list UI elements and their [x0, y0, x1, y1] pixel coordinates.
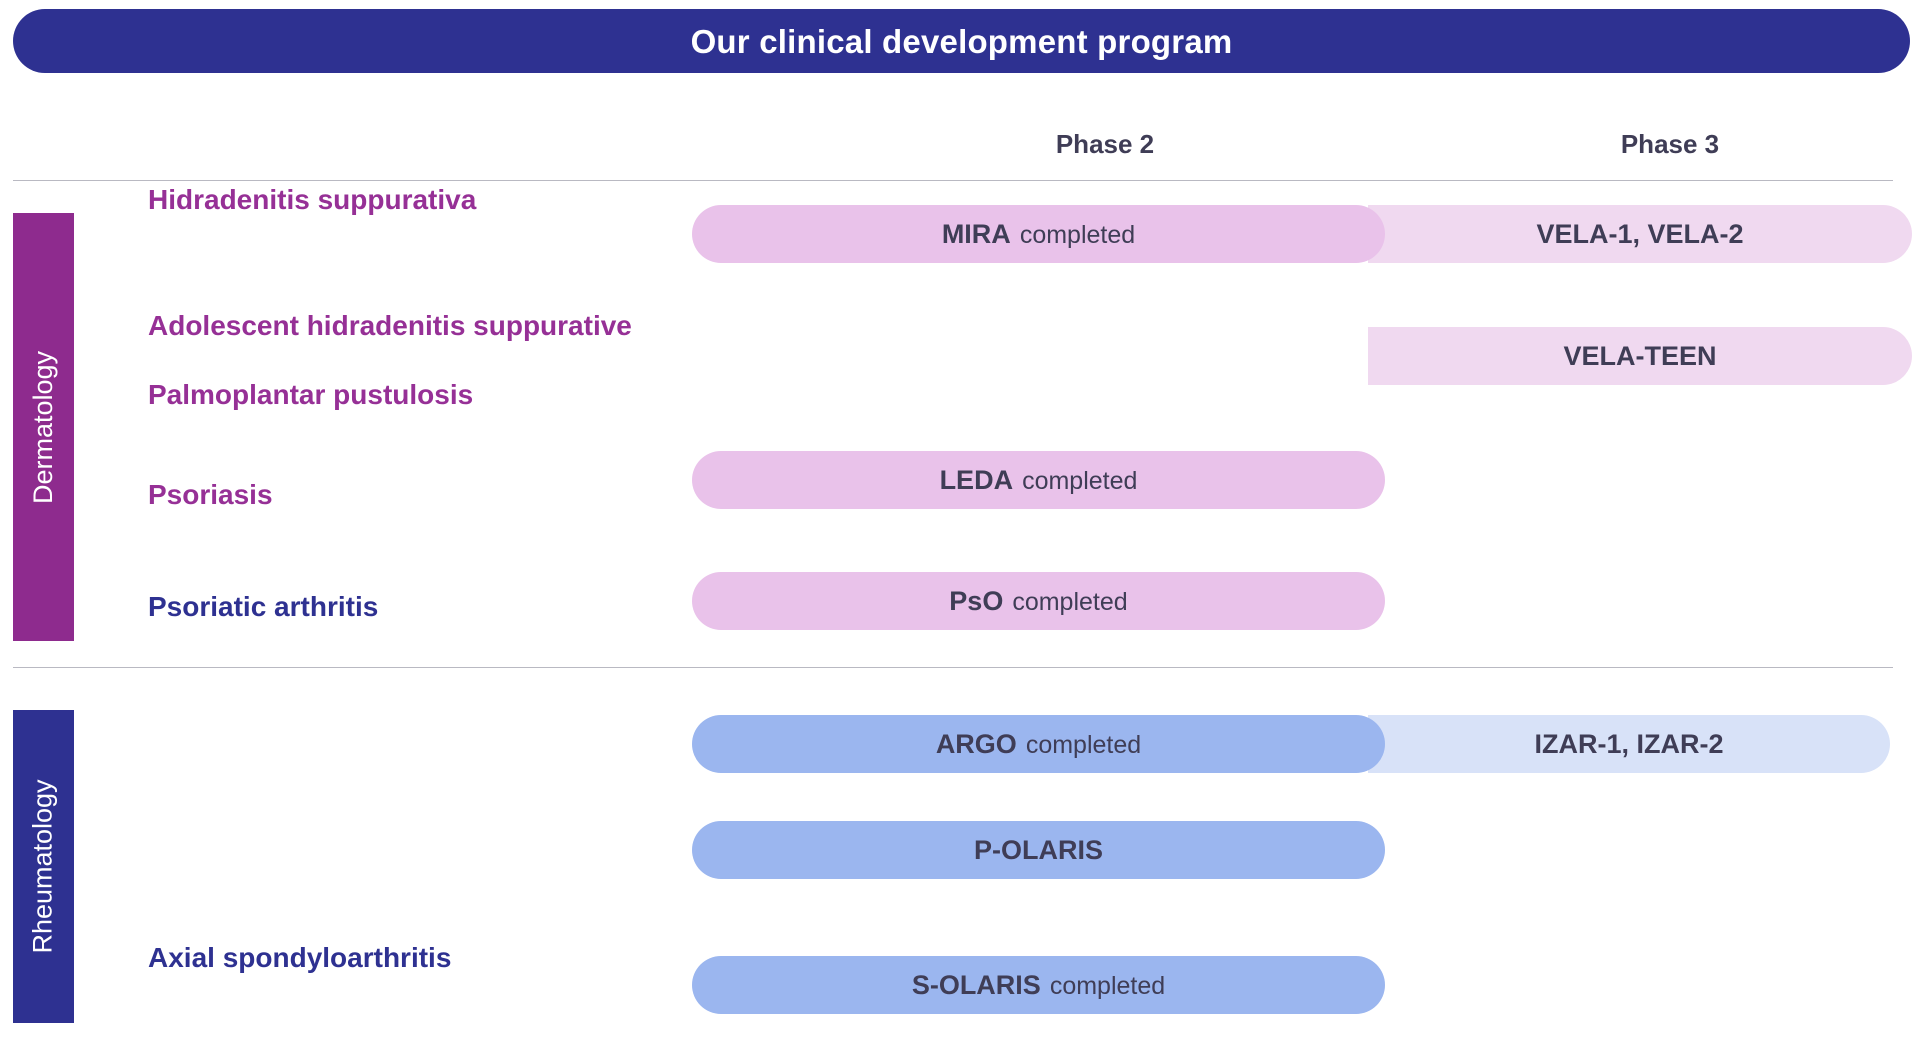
area-tab-dermatology-label: Dermatology — [30, 350, 57, 503]
indication-label-axial-spondyloarthritis: Axial spondyloarthritis — [148, 940, 708, 977]
bar-phase3-adolescent-hidradenitis-suppurative: VELA-TEEN — [1368, 327, 1912, 385]
bar-phase2-hidradenitis-suppurativa: MIRAcompleted — [692, 205, 1385, 263]
bar-phase3-hidradenitis-suppurativa-label: VELA-1, VELA-2 — [1536, 221, 1743, 248]
area-tab-dermatology: Dermatology — [13, 213, 74, 641]
bar-phase2-s-olaris: S-OLARIScompleted — [692, 956, 1385, 1014]
bar-phase3-psoriatic-arthritis: IZAR-1, IZAR-2 — [1368, 715, 1890, 773]
header-divider — [13, 180, 1893, 181]
bar-phase2-psoriatic-arthritis: ARGOcompleted — [692, 715, 1385, 773]
bar-phase2-psoriasis: PsOcompleted — [692, 572, 1385, 630]
column-header-phase-2: Phase 2 — [975, 131, 1235, 157]
indication-label-palmoplantar-pustulosis: Palmoplantar pustulosis — [148, 377, 708, 414]
bar-phase2-psoriatic-arthritis-label: ARGOcompleted — [936, 731, 1141, 758]
indication-label-psoriasis: Psoriasis — [148, 477, 708, 514]
bar-phase2-palmoplantar-pustulosis-label: LEDAcompleted — [940, 467, 1138, 494]
bar-phase2-p-olaris-label: P-OLARIS — [974, 837, 1103, 864]
section-divider — [13, 667, 1893, 668]
indication-label-adolescent-hidradenitis-suppurative: Adolescent hidradenitis suppurative — [148, 308, 708, 345]
page-title: Our clinical development program — [691, 25, 1233, 58]
bar-phase3-psoriatic-arthritis-label: IZAR-1, IZAR-2 — [1535, 731, 1724, 758]
bar-phase2-p-olaris: P-OLARIS — [692, 821, 1385, 879]
column-header-phase-3: Phase 3 — [1540, 131, 1800, 157]
bar-phase3-hidradenitis-suppurativa: VELA-1, VELA-2 — [1368, 205, 1912, 263]
indication-label-psoriatic-arthritis: Psoriatic arthritis — [148, 589, 708, 626]
bar-phase2-hidradenitis-suppurativa-label: MIRAcompleted — [942, 221, 1135, 248]
area-tab-rheumatology-label: Rheumatology — [30, 779, 57, 953]
program-title-bar: Our clinical development program — [13, 9, 1910, 73]
bar-phase2-psoriasis-label: PsOcompleted — [949, 588, 1127, 615]
bar-phase2-palmoplantar-pustulosis: LEDAcompleted — [692, 451, 1385, 509]
bar-phase2-s-olaris-label: S-OLARIScompleted — [912, 972, 1165, 999]
area-tab-rheumatology: Rheumatology — [13, 710, 74, 1023]
bar-phase3-adolescent-hidradenitis-suppurative-label: VELA-TEEN — [1563, 343, 1716, 370]
indication-label-hidradenitis-suppurativa: Hidradenitis suppurativa — [148, 182, 708, 219]
